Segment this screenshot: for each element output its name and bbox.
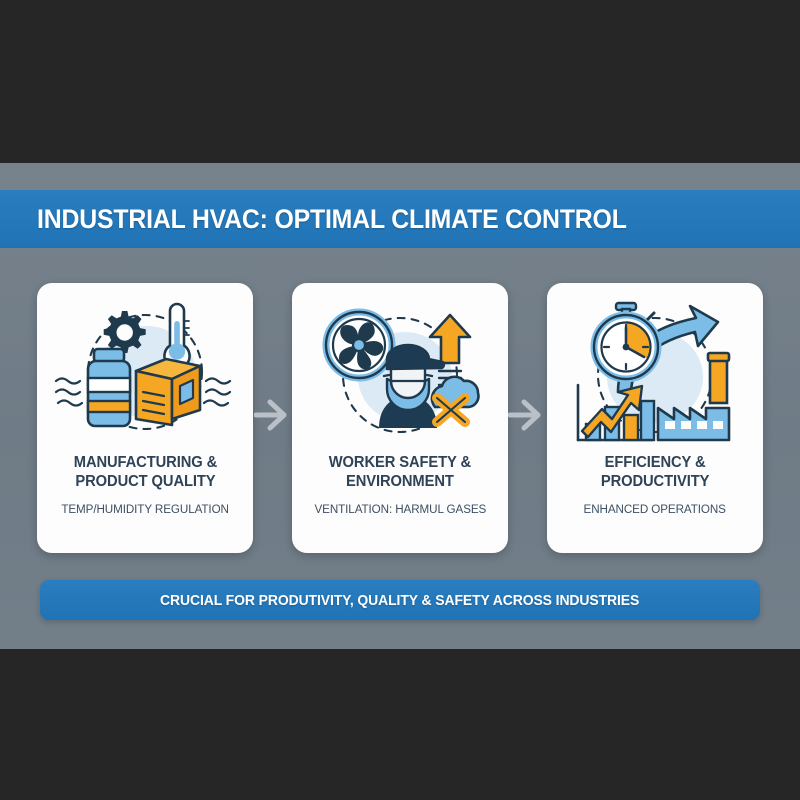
vial-bottle-icon <box>88 349 130 426</box>
card-subtitle: VENTILATION: HARMUL GASES <box>314 502 486 516</box>
card-subtitle: TEMP/HUMIDITY REGULATION <box>61 502 229 516</box>
header-bar: INDUSTRIAL HVAC: OPTIMAL CLIMATE CONTROL <box>0 190 800 248</box>
manufacturing-quality-icon <box>50 297 240 449</box>
card-title: WORKER SAFETY & ENVIRONMENT <box>321 453 478 491</box>
fan-icon <box>326 312 392 378</box>
footer-text: CRUCIAL FOR PRODUTIVITY, QUALITY & SAFET… <box>160 592 639 609</box>
stopwatch-icon <box>594 303 658 379</box>
efficiency-productivity-icon <box>560 297 750 449</box>
cards-row: MANUFACTURING & PRODUCT QUALITY TEMP/HUM… <box>37 283 763 553</box>
card-worker-safety[interactable]: WORKER SAFETY & ENVIRONMENT VENTILATION:… <box>292 283 508 553</box>
infographic-panel: INDUSTRIAL HVAC: OPTIMAL CLIMATE CONTROL <box>0 163 800 649</box>
infographic-canvas: INDUSTRIAL HVAC: OPTIMAL CLIMATE CONTROL <box>0 0 800 800</box>
card-title: EFFICIENCY & PRODUCTIVITY <box>593 453 717 491</box>
card-manufacturing-quality[interactable]: MANUFACTURING & PRODUCT QUALITY TEMP/HUM… <box>37 283 253 553</box>
footer-banner: CRUCIAL FOR PRODUTIVITY, QUALITY & SAFET… <box>40 580 760 620</box>
card-efficiency-productivity[interactable]: EFFICIENCY & PRODUCTIVITY ENHANCED OPERA… <box>547 283 763 553</box>
gear-icon <box>104 311 146 353</box>
page-title: INDUSTRIAL HVAC: OPTIMAL CLIMATE CONTROL <box>37 204 627 235</box>
card-title: MANUFACTURING & PRODUCT QUALITY <box>66 453 225 491</box>
product-box-icon <box>136 359 200 425</box>
card-subtitle: ENHANCED OPERATIONS <box>584 502 726 516</box>
worker-safety-icon <box>305 297 495 449</box>
